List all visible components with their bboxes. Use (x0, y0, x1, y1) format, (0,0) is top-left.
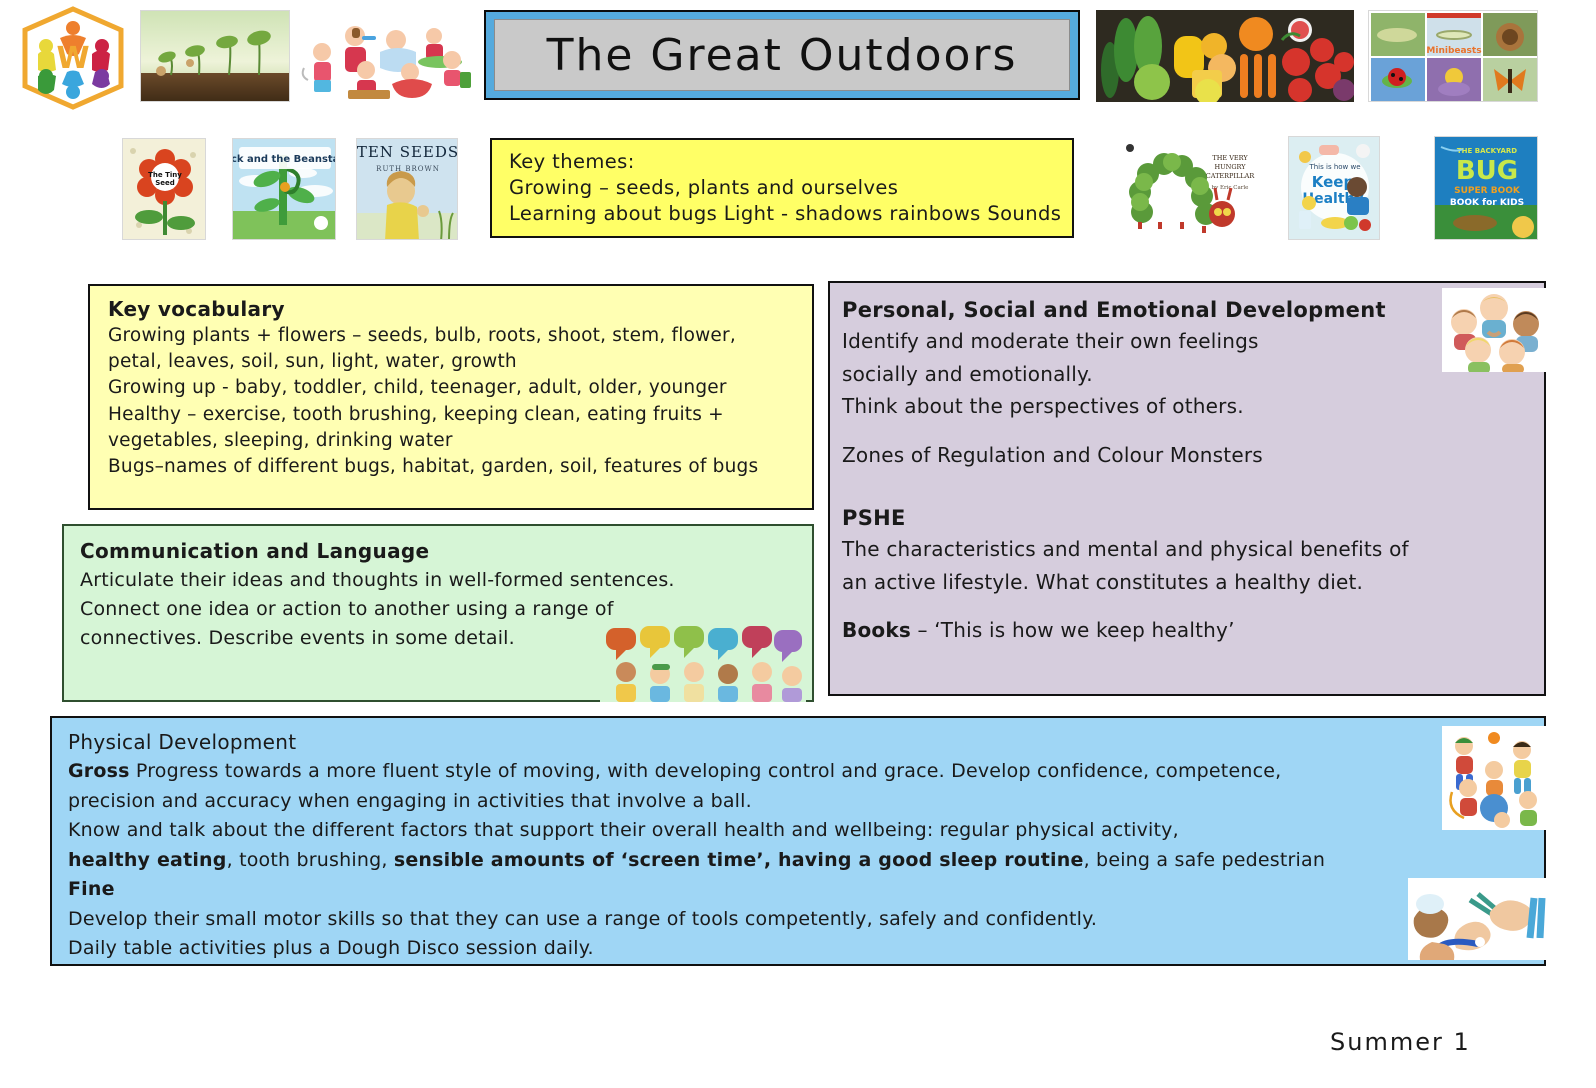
book-this-is-how-we-keep-healthy: This is how we Keep Healthy (1288, 136, 1380, 240)
children-circle-clipart (1442, 288, 1546, 372)
school-logo: W (18, 6, 128, 110)
key-vocabulary-line: Growing plants + flowers – seeds, bulb, … (108, 323, 812, 349)
psed-box: Personal, Social and Emotional Developme… (828, 281, 1546, 696)
page-title-plate: The Great Outdoors (494, 19, 1070, 91)
book-the-tiny-seed: The Tiny Seed (122, 138, 206, 240)
children-speech-bubbles-clipart (600, 622, 806, 702)
psed-books-label: Books (842, 618, 911, 642)
key-vocabulary-box: Key vocabulary Growing plants + flowers … (88, 284, 814, 510)
book-jack-and-the-beanstalk: Jack and the Beanstalk (232, 138, 336, 240)
physical-development-heading: Physical Development (68, 728, 1544, 757)
book-ten-seeds: TEN SEEDS RUTH BROWN (356, 138, 458, 240)
psed-line: Identify and moderate their own feelings (842, 325, 1544, 358)
communication-and-language-line: Articulate their ideas and thoughts in w… (80, 566, 812, 595)
fine-line-1: Develop their small motor skills so that… (68, 905, 1544, 935)
minibeasts-photo-grid: Minibeasts (1368, 10, 1538, 102)
svg-text:Jack and the Beanstalk: Jack and the Beanstalk (233, 154, 336, 165)
fine-motor-hands-clipart (1408, 878, 1548, 960)
psed-approaches: Zones of Regulation and Colour Monsters (842, 439, 1544, 472)
communication-and-language-heading: Communication and Language (80, 536, 812, 566)
page-title: The Great Outdoors (547, 30, 1018, 81)
healthy-habits-svg (300, 10, 472, 102)
key-vocabulary-line: Healthy – exercise, tooth brushing, keep… (108, 402, 812, 428)
svg-text:RUTH BROWN: RUTH BROWN (376, 165, 440, 173)
term-label: Summer 1 (1330, 1028, 1471, 1056)
key-themes-box: Key themes: Growing – seeds, plants and … (490, 138, 1074, 238)
psed-line: socially and emotionally. (842, 358, 1544, 391)
tiny-seed-cover-svg: The Tiny Seed (123, 139, 206, 240)
factor-text-1: , tooth brushing, (227, 849, 394, 871)
pshe-line: an active lifestyle. What constitutes a … (842, 566, 1544, 599)
fine-motor-hands-svg (1408, 878, 1548, 960)
svg-text:The Tiny: The Tiny (148, 171, 182, 179)
factor-text-2: , being a safe pedestrian (1084, 849, 1326, 871)
physical-development-gross-line: Gross Progress towards a more fluent sty… (68, 757, 1544, 787)
school-logo-svg: W (18, 6, 128, 110)
svg-text:Minibeasts: Minibeasts (1426, 46, 1481, 56)
physical-development-factors-line: healthy eating, tooth brushing, sensible… (68, 846, 1544, 876)
key-themes-line: Key themes: (509, 149, 1072, 175)
children-circle-svg (1442, 288, 1546, 372)
keep-healthy-cover-svg: This is how we Keep Healthy (1289, 137, 1380, 240)
jack-beanstalk-cover-svg: Jack and the Beanstalk (233, 139, 336, 240)
communication-and-language-line: Connect one idea or action to another us… (80, 595, 812, 624)
vegetables-photo-svg (1096, 10, 1354, 102)
ten-seeds-cover-svg: TEN SEEDS RUTH BROWN (357, 139, 458, 240)
healthy-habits-children-clipart (300, 10, 472, 102)
svg-text:HUNGRY: HUNGRY (1214, 163, 1246, 171)
psed-line: Think about the perspectives of others. (842, 390, 1544, 423)
key-themes-line: Growing – seeds, plants and ourselves (509, 175, 1072, 201)
svg-text:TEN SEEDS: TEN SEEDS (357, 143, 458, 161)
psed-books-text: – ‘This is how we keep healthy’ (911, 618, 1235, 642)
svg-text:THE BACKYARD: THE BACKYARD (1457, 147, 1517, 155)
key-vocabulary-heading: Key vocabulary (108, 296, 812, 323)
svg-text:W: W (56, 41, 89, 76)
svg-text:SUPER BOOK: SUPER BOOK (1454, 186, 1521, 196)
gross-line-1: Progress towards a more fluent style of … (130, 760, 1282, 782)
fine-label: Fine (68, 875, 1544, 905)
sport-children-svg (1442, 726, 1546, 830)
minibeasts-grid-svg: Minibeasts (1369, 11, 1538, 102)
svg-text:BOOK for KIDS: BOOK for KIDS (1450, 198, 1524, 208)
book-backyard-bug-book: THE BACKYARD BUG SUPER BOOK BOOK for KID… (1434, 136, 1538, 240)
key-vocabulary-line: vegetables, sleeping, drinking water (108, 428, 812, 454)
key-vocabulary-line: Bugs–names of different bugs, habitat, g… (108, 454, 812, 480)
svg-text:THE VERY: THE VERY (1212, 154, 1248, 162)
pshe-line: The characteristics and mental and physi… (842, 533, 1544, 566)
bug-book-cover-svg: THE BACKYARD BUG SUPER BOOK BOOK for KID… (1435, 137, 1538, 240)
seedlings-photo-svg (141, 11, 290, 102)
seedlings-growing-photo (140, 10, 290, 102)
svg-text:BUG: BUG (1456, 156, 1518, 186)
factor-screen-time-sleep: sensible amounts of ‘screen time’, havin… (394, 849, 1084, 871)
gross-line-2: precision and accuracy when engaging in … (68, 787, 1544, 817)
svg-text:This is how we: This is how we (1308, 163, 1360, 171)
physical-development-box: Physical Development Gross Progress towa… (50, 716, 1546, 966)
key-vocabulary-line: petal, leaves, soil, sun, light, water, … (108, 349, 812, 375)
page-title-banner: The Great Outdoors (484, 10, 1080, 100)
fruit-and-vegetables-photo (1096, 10, 1354, 102)
book-very-hungry-caterpillar: THE VERY HUNGRY CATERPILLAR by Eric Carl… (1118, 136, 1264, 240)
fine-line-2: Daily table activities plus a Dough Disc… (68, 934, 1544, 964)
svg-text:Seed: Seed (155, 179, 175, 187)
children-playing-sport-clipart (1442, 726, 1546, 830)
psed-books-line: Books – ‘This is how we keep healthy’ (842, 614, 1544, 647)
pshe-heading: PSHE (842, 503, 1544, 533)
physical-development-know-line: Know and talk about the different factor… (68, 816, 1544, 846)
psed-heading: Personal, Social and Emotional Developme… (842, 295, 1544, 325)
gross-label: Gross (68, 760, 130, 782)
speech-bubbles-svg (600, 622, 806, 702)
svg-text:CATERPILLAR: CATERPILLAR (1206, 172, 1256, 180)
hungry-caterpillar-cover-svg: THE VERY HUNGRY CATERPILLAR by Eric Carl… (1118, 136, 1264, 240)
key-vocabulary-line: Growing up - baby, toddler, child, teena… (108, 375, 812, 401)
key-themes-line: Learning about bugs Light - shadows rain… (509, 201, 1072, 227)
factor-healthy-eating: healthy eating (68, 849, 227, 871)
